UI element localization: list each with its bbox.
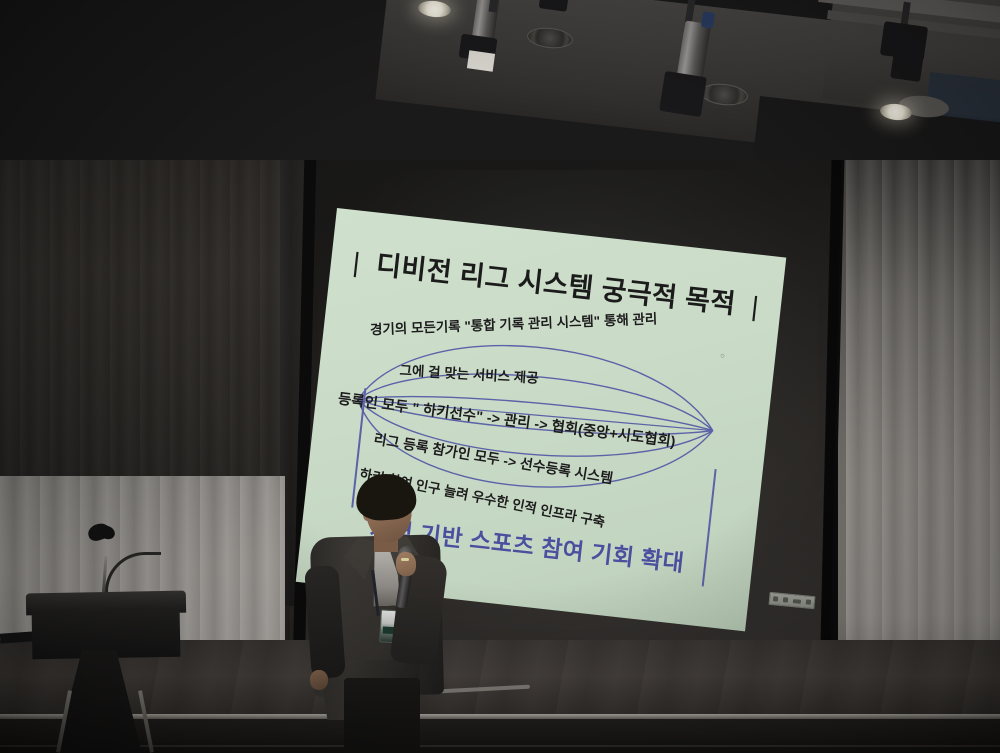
white-side-curtain-right [846,140,1000,700]
conference-photo-scene: | 디비전 리그 시스템 궁극적 목적 | ○ 경기의 모든기록 "통합 기록 … [0,0,1000,753]
presenter-hair [354,472,417,522]
presenter-left-hand [310,670,328,690]
presenter [300,474,460,753]
presenter-trousers [344,678,420,753]
next-slide-icon[interactable] [806,599,811,604]
title-bar-left: | [351,247,362,278]
title-bar-right: | [750,291,761,322]
prev-slide-icon[interactable] [772,596,777,601]
presenter-ring [401,558,409,561]
presenter-right-hand [396,552,416,576]
ceiling [0,0,1000,160]
menu-icon[interactable] [793,599,801,604]
pointer-icon[interactable] [783,597,788,602]
